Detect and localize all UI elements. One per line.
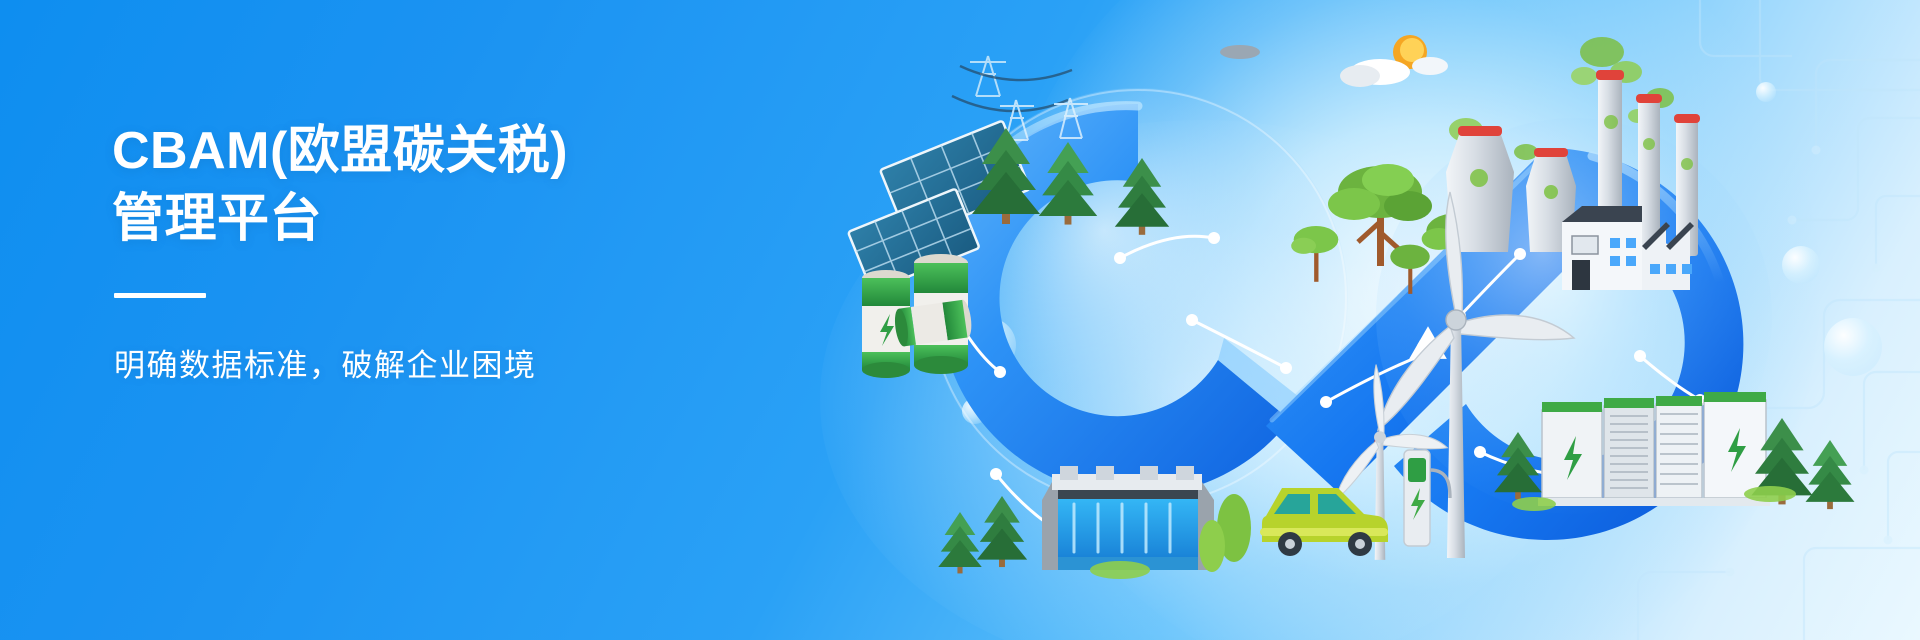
cbam-hero-banner: CBAM(欧盟碳关税) 管理平台 明确数据标准，破解企业困境	[0, 0, 1920, 640]
electric-car-icon	[1260, 488, 1388, 556]
hero-illustration	[820, 0, 1920, 640]
page-title: CBAM(欧盟碳关税) 管理平台	[112, 118, 812, 253]
title-divider	[114, 293, 206, 298]
sun-cloud-icon	[1220, 35, 1448, 87]
hero-subtitle: 明确数据标准，破解企业困境	[114, 340, 812, 385]
energy-storage-icon	[1538, 392, 1770, 506]
pine-tree-icon	[938, 496, 1027, 573]
hero-text-block: CBAM(欧盟碳关税) 管理平台 明确数据标准，破解企业困境	[112, 118, 812, 385]
battery-icon	[862, 254, 973, 378]
hydro-dam-icon	[1042, 466, 1214, 570]
